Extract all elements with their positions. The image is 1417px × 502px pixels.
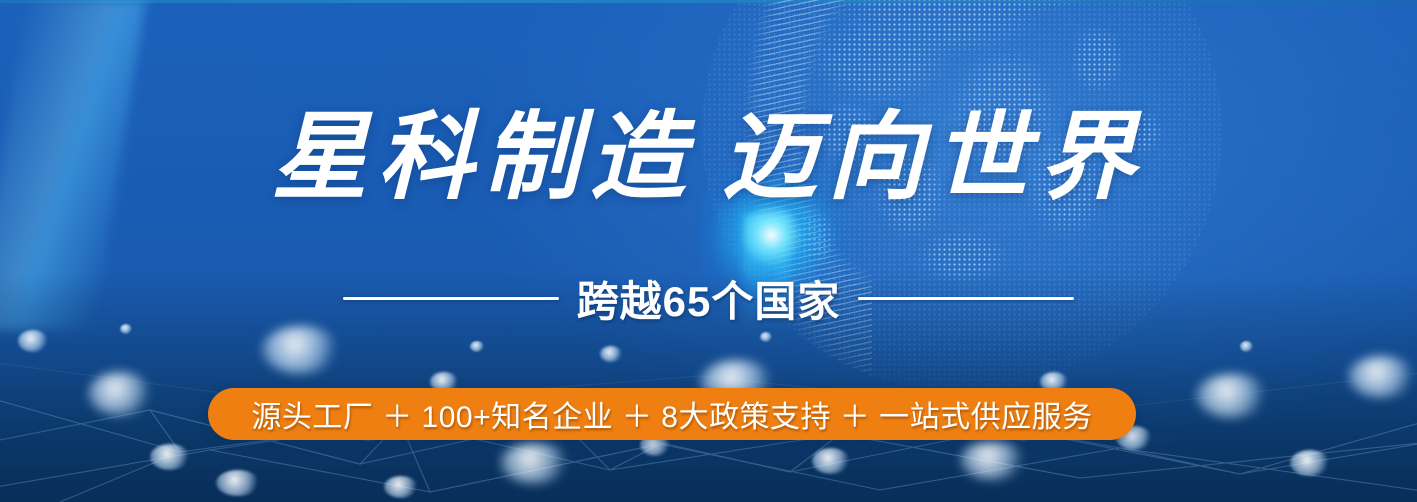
page-title: 星科制造迈向世界: [0, 108, 1417, 206]
highlight-pill[interactable]: 源头工厂 ＋ 100+知名企业 ＋ 8大政策支持 ＋ 一站式供应服务: [208, 388, 1136, 440]
headline-part-2: 迈向世界: [722, 100, 1146, 213]
divider-left: [343, 297, 559, 300]
subtitle-text: 跨越65个国家: [577, 268, 841, 329]
subtitle-row: 跨越65个国家: [0, 268, 1417, 329]
banner-content: 星科制造迈向世界 跨越65个国家 源头工厂 ＋ 100+知名企业 ＋ 8大政策支…: [0, 0, 1417, 502]
divider-right: [858, 297, 1074, 300]
headline-part-1: 星科制造: [272, 100, 696, 213]
marketing-banner: 星科制造迈向世界 跨越65个国家 源头工厂 ＋ 100+知名企业 ＋ 8大政策支…: [0, 0, 1417, 502]
highlight-pill-label: 源头工厂 ＋ 100+知名企业 ＋ 8大政策支持 ＋ 一站式供应服务: [251, 392, 1092, 436]
